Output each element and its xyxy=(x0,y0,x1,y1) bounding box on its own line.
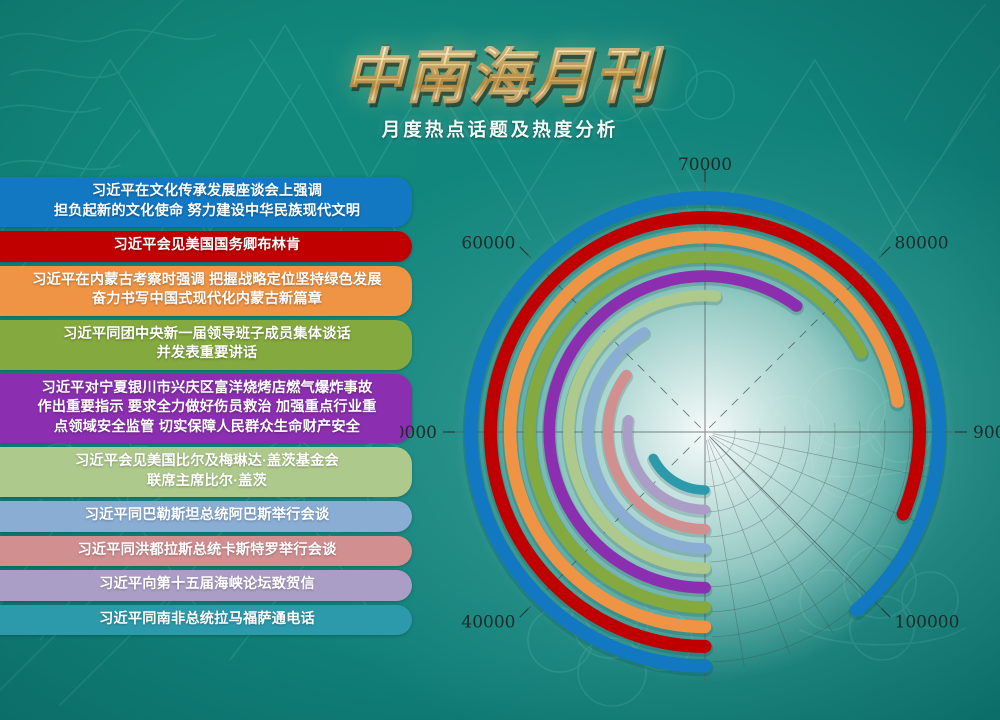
infographic-root: 中南海月刊 月度热点话题及热度分析 习近平在文化传承发展座谈会上强调 担负起新的… xyxy=(0,0,1000,720)
legend-item-4[interactable]: 习近平对宁夏银川市兴庆区富洋烧烤店燃气爆炸事故 作出重要指示 要求全力做好伤员救… xyxy=(0,374,412,444)
legend-item-3[interactable]: 习近平同团中央新一届领导班子成员集体谈话 并发表重要讲话 xyxy=(0,320,412,370)
polar-chart-svg: 400005000060000700008000090000100000 xyxy=(400,150,1000,690)
axis-tick-label-100000: 100000 xyxy=(895,613,960,633)
legend-item-label: 习近平向第十五届海峡论坛致贺信 xyxy=(99,575,315,595)
legend-item-5[interactable]: 习近平会见美国比尔及梅琳达·盖茨基金会 联席主席比尔·盖茨 xyxy=(0,447,412,497)
legend-item-label: 习近平同南非总统拉马福萨通电话 xyxy=(99,610,315,630)
legend-item-9[interactable]: 习近平同南非总统拉马福萨通电话 xyxy=(0,605,412,636)
legend-item-label: 习近平在内蒙古考察时强调 把握战略定位坚持绿色发展 奋力书写中国式现代化内蒙古新… xyxy=(32,271,381,310)
page-subtitle: 月度热点话题及热度分析 xyxy=(0,116,1000,142)
page-title: 中南海月刊 xyxy=(336,46,663,108)
axis-tick-label-90000: 90000 xyxy=(973,423,1000,443)
title-wrap: 中南海月刊 xyxy=(336,46,663,108)
legend-item-8[interactable]: 习近平向第十五届海峡论坛致贺信 xyxy=(0,570,412,601)
legend-item-label: 习近平同巴勒斯坦总统阿巴斯举行会谈 xyxy=(85,506,330,526)
legend-item-2[interactable]: 习近平在内蒙古考察时强调 把握战略定位坚持绿色发展 奋力书写中国式现代化内蒙古新… xyxy=(0,266,412,316)
axis-tick-label-50000: 50000 xyxy=(400,423,437,443)
legend-item-label: 习近平会见美国国务卿布林肯 xyxy=(113,236,300,256)
topic-legend-list: 习近平在文化传承发展座谈会上强调 担负起新的文化使命 努力建设中华民族现代文明习… xyxy=(0,177,412,639)
axis-tick-label-40000: 40000 xyxy=(461,613,515,633)
legend-item-0[interactable]: 习近平在文化传承发展座谈会上强调 担负起新的文化使命 努力建设中华民族现代文明 xyxy=(0,177,412,227)
legend-item-7[interactable]: 习近平同洪都拉斯总统卡斯特罗举行会谈 xyxy=(0,536,412,567)
axis-tick-label-80000: 80000 xyxy=(895,233,949,253)
legend-item-6[interactable]: 习近平同巴勒斯坦总统阿巴斯举行会谈 xyxy=(0,501,412,532)
polar-bar-chart: 400005000060000700008000090000100000 xyxy=(400,150,1000,690)
legend-item-label: 习近平会见美国比尔及梅琳达·盖茨基金会 联席主席比尔·盖茨 xyxy=(75,452,339,491)
axis-tick-label-60000: 60000 xyxy=(461,233,515,253)
legend-item-label: 习近平同团中央新一届领导班子成员集体谈话 并发表重要讲话 xyxy=(63,325,351,364)
legend-item-label: 习近平对宁夏银川市兴庆区富洋烧烤店燃气爆炸事故 作出重要指示 要求全力做好伤员救… xyxy=(37,379,376,438)
page-header: 中南海月刊 月度热点话题及热度分析 xyxy=(0,46,1000,142)
legend-item-label: 习近平在文化传承发展座谈会上强调 担负起新的文化使命 努力建设中华民族现代文明 xyxy=(54,182,360,221)
legend-item-1[interactable]: 习近平会见美国国务卿布林肯 xyxy=(0,231,412,262)
legend-item-label: 习近平同洪都拉斯总统卡斯特罗举行会谈 xyxy=(78,541,337,561)
